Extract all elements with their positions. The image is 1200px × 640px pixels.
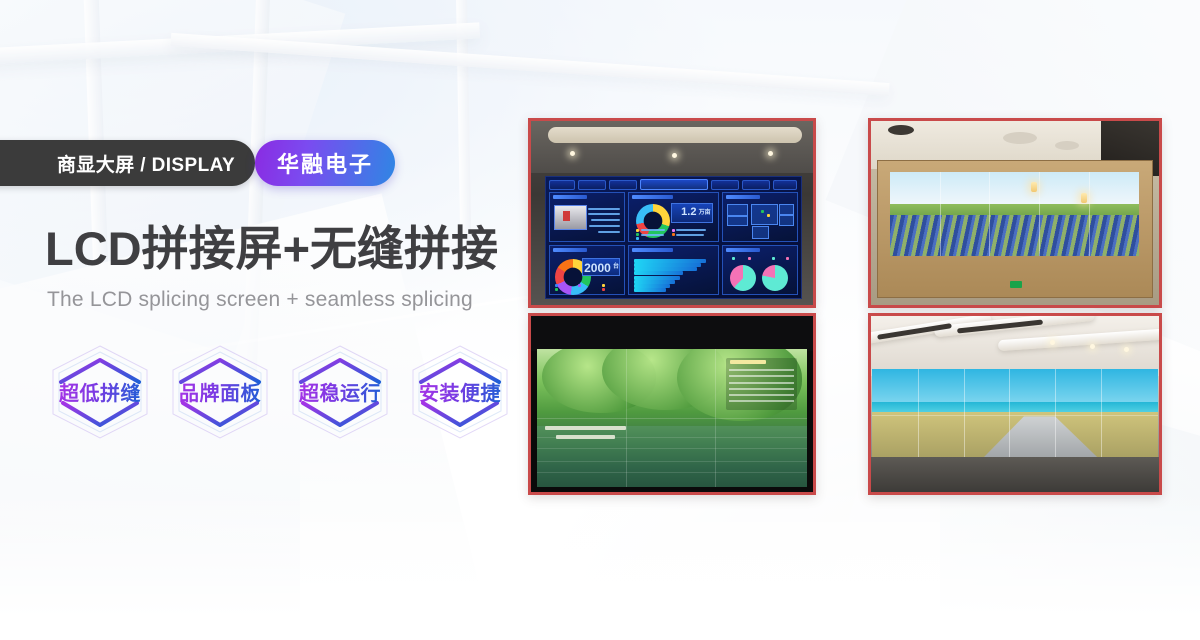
left-content: 商显大屏 / DISPLAY 华融电子 LCD拼接屏+无缝拼接 The LCD … xyxy=(45,140,545,444)
photo-image: 1.2 万亩 xyxy=(531,121,813,305)
page-title: LCD拼接屏+无缝拼接 xyxy=(45,224,545,274)
brand-pill: 华融电子 xyxy=(255,140,395,186)
brand-tagline-row: 商显大屏 / DISPLAY 华融电子 xyxy=(45,140,395,186)
page-subtitle: The LCD splicing screen + seamless splic… xyxy=(47,288,545,312)
photo-image xyxy=(531,316,813,492)
photo-image xyxy=(871,121,1159,305)
product-photo-grid: 1.2 万亩 xyxy=(528,118,1162,492)
feature-badge: 品牌面板 xyxy=(161,340,279,444)
feature-badge: 超低拼缝 xyxy=(41,340,159,444)
background-fade xyxy=(0,490,1200,640)
feature-badge: 超稳运行 xyxy=(281,340,399,444)
feature-badge-list: 超低拼缝 品牌面板 超稳运行 xyxy=(41,340,545,444)
category-pill: 商显大屏 / DISPLAY xyxy=(0,140,255,186)
photo-willow-lake-video-wall xyxy=(528,313,816,495)
feature-badge-label: 超低拼缝 xyxy=(59,377,141,406)
photo-solar-farm-video-wall xyxy=(868,118,1162,308)
feature-badge-label: 超稳运行 xyxy=(299,377,381,406)
feature-badge: 安装便捷 xyxy=(401,340,519,444)
feature-badge-label: 安装便捷 xyxy=(419,377,501,406)
photo-control-room-dashboard: 1.2 万亩 xyxy=(528,118,816,308)
promo-banner: 商显大屏 / DISPLAY 华融电子 LCD拼接屏+无缝拼接 The LCD … xyxy=(0,0,1200,640)
photo-beach-boardwalk-video-wall xyxy=(868,313,1162,495)
feature-badge-label: 品牌面板 xyxy=(179,377,261,406)
photo-image xyxy=(871,316,1159,492)
